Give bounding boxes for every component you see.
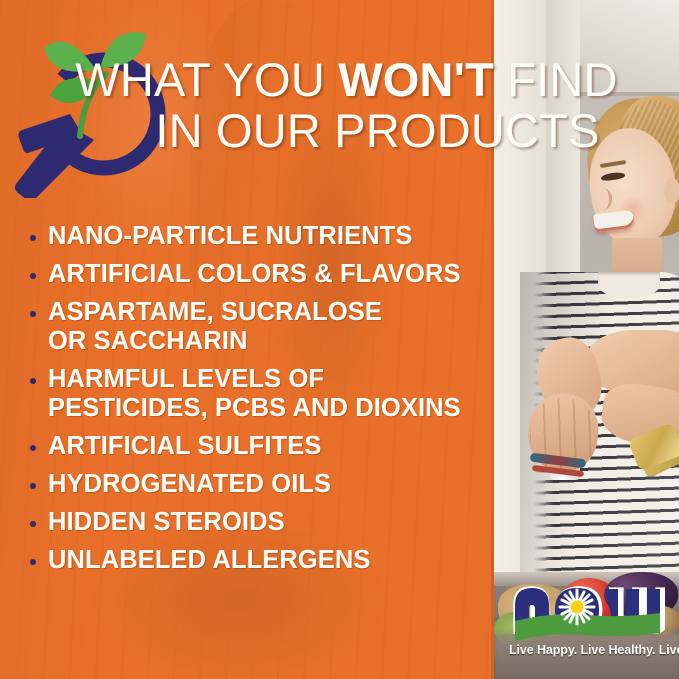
list-item-line-1: ARTIFICIAL COLORS & FLAVORS — [48, 260, 461, 288]
list-item-label: HYDROGENATED OILS — [48, 470, 331, 499]
bullet-dot-icon — [30, 378, 36, 384]
list-item: ARTIFICIAL COLORS & FLAVORS — [30, 260, 500, 289]
list-item-label: HARMFUL LEVELS OF PESTICIDES, PCBS AND D… — [48, 365, 461, 423]
list-item: ASPARTAME, SUCRALOSE OR SACCHARIN — [30, 298, 500, 356]
list-item-line-1: UNLABELED ALLERGENS — [48, 546, 371, 574]
photo-ceiling — [580, 0, 679, 96]
list-item-line-2: OR SACCHARIN — [48, 327, 382, 356]
bullet-dot-icon — [30, 311, 36, 317]
bullet-dot-icon — [30, 235, 36, 241]
bullet-dot-icon — [30, 483, 36, 489]
magnifying-glass-with-sprout-icon — [8, 18, 188, 198]
bullet-dot-icon — [30, 445, 36, 451]
logo-tagline: Live Happy. Live Healthy. Live NOW. — [509, 643, 665, 657]
list-item-line-1: HARMFUL LEVELS OF — [48, 365, 324, 393]
list-item-label: NANO-PARTICLE NUTRIENTS — [48, 222, 412, 251]
bullet-dot-icon — [30, 521, 36, 527]
now-foods-logo[interactable]: ® Live Happy. Live Healthy. Live NOW. — [509, 583, 665, 657]
excluded-ingredients-list: NANO-PARTICLE NUTRIENTS ARTIFICIAL COLOR… — [30, 222, 500, 584]
sprout-leaf-right — [100, 32, 146, 68]
list-item: ARTIFICIAL SULFITES — [30, 432, 500, 461]
list-item-line-2: PESTICIDES, PCBS AND DIOXINS — [48, 394, 461, 423]
list-item-line-1: ARTIFICIAL SULFITES — [48, 432, 321, 460]
list-item: HARMFUL LEVELS OF PESTICIDES, PCBS AND D… — [30, 365, 500, 423]
shirt-collar — [598, 272, 660, 298]
list-item-line-1: NANO-PARTICLE NUTRIENTS — [48, 222, 412, 250]
list-item: NANO-PARTICLE NUTRIENTS — [30, 222, 500, 251]
list-item-line-1: HYDROGENATED OILS — [48, 470, 331, 498]
list-item: HYDROGENATED OILS — [30, 470, 500, 499]
woman-ear — [664, 178, 679, 204]
list-item-label: UNLABELED ALLERGENS — [48, 546, 371, 575]
poster-canvas: WHAT YOU WON'T FIND IN OUR PRODUCTS NANO… — [0, 0, 679, 679]
list-item-label: ASPARTAME, SUCRALOSE OR SACCHARIN — [48, 298, 382, 356]
logo-trademark-symbol: ® — [660, 591, 665, 599]
list-item-line-1: HIDDEN STEROIDS — [48, 508, 285, 536]
bullet-dot-icon — [30, 273, 36, 279]
list-item: UNLABELED ALLERGENS — [30, 546, 500, 575]
list-item: HIDDEN STEROIDS — [30, 508, 500, 537]
sun-burst-icon — [560, 590, 594, 624]
list-item-line-1: ASPARTAME, SUCRALOSE — [48, 298, 382, 326]
list-item-label: HIDDEN STEROIDS — [48, 508, 285, 537]
bullet-dot-icon — [30, 559, 36, 565]
woman-nose — [594, 188, 612, 210]
list-item-label: ARTIFICIAL SULFITES — [48, 432, 321, 461]
lifestyle-photo — [494, 0, 679, 679]
list-item-label: ARTIFICIAL COLORS & FLAVORS — [48, 260, 461, 289]
